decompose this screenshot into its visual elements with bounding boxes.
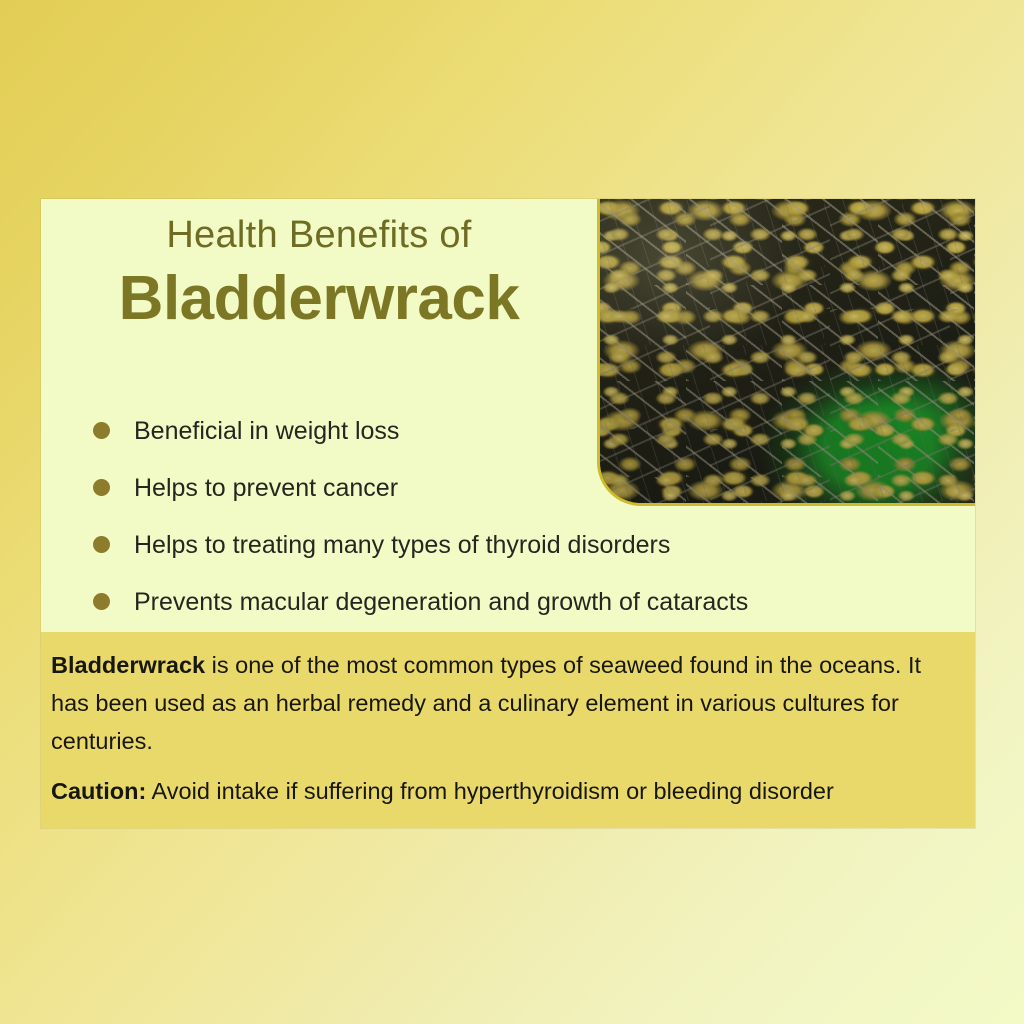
benefit-label: Prevents macular degeneration and growth… (134, 587, 748, 617)
benefit-label: Beneficial in weight loss (134, 416, 399, 446)
bullet-dot-icon (93, 593, 110, 610)
page-title: Bladderwrack (41, 265, 597, 333)
caution-paragraph: Caution: Avoid intake if suffering from … (51, 772, 965, 810)
intro-lead-term: Bladderwrack (51, 652, 205, 678)
heading-block: Health Benefits of Bladderwrack (41, 199, 597, 333)
benefit-label: Helps to prevent cancer (134, 473, 398, 503)
card-footer: Bladderwrack is one of the most common t… (41, 632, 975, 828)
intro-paragraph: Bladderwrack is one of the most common t… (51, 646, 965, 760)
bullet-dot-icon (93, 479, 110, 496)
kicker-text: Health Benefits of (41, 213, 597, 259)
infographic-page: Health Benefits of Bladderwrack Benefici… (0, 0, 1024, 1024)
list-item: Helps to treating many types of thyroid … (55, 516, 960, 573)
benefit-label: Helps to treating many types of thyroid … (134, 530, 670, 560)
bullet-dot-icon (93, 422, 110, 439)
benefits-list: Beneficial in weight loss Helps to preve… (55, 402, 960, 630)
caution-body-text: Avoid intake if suffering from hyperthyr… (146, 778, 834, 804)
bladderwrack-card: Health Benefits of Bladderwrack Benefici… (41, 199, 975, 828)
caution-lead-term: Caution: (51, 778, 146, 804)
card-upper-panel: Health Benefits of Bladderwrack Benefici… (41, 199, 975, 632)
list-item: Helps to prevent cancer (55, 459, 960, 516)
list-item: Beneficial in weight loss (55, 402, 960, 459)
bullet-dot-icon (93, 536, 110, 553)
list-item: Prevents macular degeneration and growth… (55, 573, 960, 630)
